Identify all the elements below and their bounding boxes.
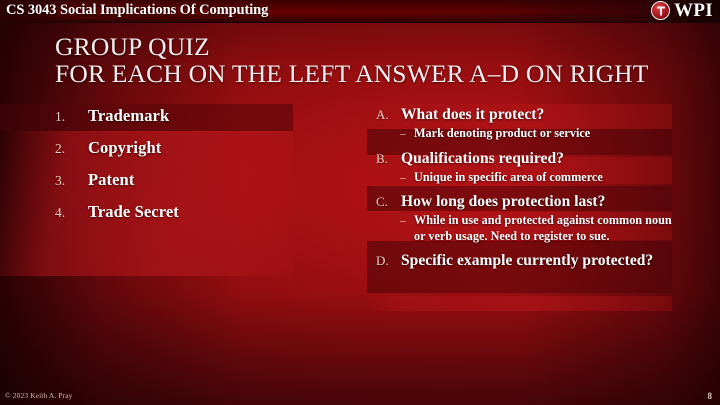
- question-row: B. Qualifications required?: [376, 149, 676, 168]
- question-row: C. How long does protection last?: [376, 192, 676, 211]
- question-marker: A.: [376, 107, 401, 123]
- course-title: CS 3043 Social Implications Of Computing: [6, 2, 268, 19]
- list-item: C. How long does protection last? – Whil…: [376, 192, 676, 244]
- list-item-marker: 3.: [55, 173, 88, 189]
- list-item-label: Trademark: [88, 106, 169, 126]
- question-row: A. What does it protect?: [376, 105, 676, 124]
- list-item: D. Specific example currently protected?: [376, 251, 676, 270]
- spacer: [376, 244, 676, 251]
- list-item: 3. Patent: [55, 170, 305, 202]
- answer-row: – Mark denoting product or service: [376, 126, 676, 142]
- page-number: 8: [708, 391, 713, 401]
- list-item-marker: 2.: [55, 141, 88, 157]
- right-questions-list: A. What does it protect? – Mark denoting…: [376, 105, 676, 270]
- question-label: Qualifications required?: [401, 149, 564, 168]
- page-title-line2: FOR EACH ON THE LEFT ANSWER A–D ON RIGHT: [55, 61, 695, 88]
- slide-canvas: CS 3043 Social Implications Of Computing…: [0, 0, 720, 405]
- left-terms-list: 1. Trademark 2. Copyright 3. Patent 4. T…: [55, 106, 305, 234]
- question-label: What does it protect?: [401, 105, 544, 124]
- question-label: Specific example currently protected?: [401, 251, 653, 270]
- question-marker: D.: [376, 253, 401, 269]
- list-item: B. Qualifications required? – Unique in …: [376, 149, 676, 186]
- answer-row: – Unique in specific area of commerce: [376, 170, 676, 186]
- spacer: [376, 185, 676, 192]
- wpi-logo: WPI: [651, 1, 713, 20]
- list-item-label: Patent: [88, 170, 134, 190]
- list-item-label: Copyright: [88, 138, 161, 158]
- wpi-seal-icon: [651, 1, 670, 20]
- answer-label: Unique in specific area of commerce: [414, 170, 603, 186]
- dash-bullet-icon: –: [400, 172, 414, 184]
- question-label: How long does protection last?: [401, 192, 605, 211]
- list-item-marker: 1.: [55, 109, 88, 125]
- dash-bullet-icon: –: [400, 215, 414, 227]
- question-row: D. Specific example currently protected?: [376, 251, 676, 270]
- spacer: [376, 142, 676, 149]
- answer-row: – While in use and protected against com…: [376, 213, 676, 244]
- answer-label: Mark denoting product or service: [414, 126, 590, 142]
- page-title: GROUP QUIZ FOR EACH ON THE LEFT ANSWER A…: [55, 34, 695, 87]
- answer-label: While in use and protected against commo…: [414, 213, 676, 244]
- wpi-logo-text: WPI: [674, 1, 713, 20]
- list-item: A. What does it protect? – Mark denoting…: [376, 105, 676, 142]
- list-item-label: Trade Secret: [88, 202, 179, 222]
- list-item: 2. Copyright: [55, 138, 305, 170]
- question-marker: C.: [376, 194, 401, 210]
- list-item: 4. Trade Secret: [55, 202, 305, 234]
- list-item-marker: 4.: [55, 205, 88, 221]
- list-item: 1. Trademark: [55, 106, 305, 138]
- question-marker: B.: [376, 151, 401, 167]
- page-title-line1: GROUP QUIZ: [55, 34, 695, 61]
- copyright-notice: © 2023 Keith A. Pray: [5, 391, 73, 400]
- dash-bullet-icon: –: [400, 128, 414, 140]
